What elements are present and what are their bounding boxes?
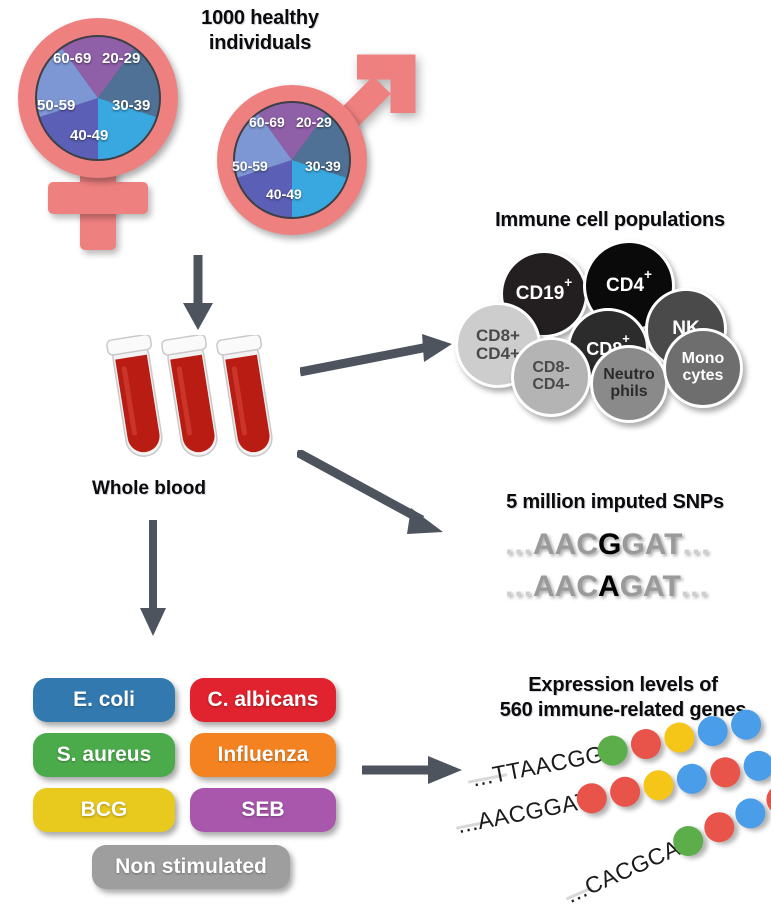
cell-label: CD4+ — [606, 276, 652, 296]
immune-cells-group: CD19+ CD4+ CD8+ CD4+ CD8+ NK CD8- CD4- N… — [455, 240, 765, 415]
snp-left: AAC — [533, 528, 598, 561]
stimulus-s-aureus[interactable]: S. aureus — [33, 733, 175, 777]
age-label-60-69: 60-69 — [53, 50, 91, 67]
snp-highlight: G — [598, 528, 621, 561]
snp-suffix: ... — [681, 570, 709, 603]
stimulus-label: Non stimulated — [115, 855, 267, 879]
immune-cells-title: Immune cell populations — [460, 208, 760, 233]
snps-title: 5 million imputed SNPs — [470, 490, 760, 515]
arrow-down-cohort-to-blood — [178, 255, 218, 335]
stimulus-seb[interactable]: SEB — [190, 788, 336, 832]
expression-bead — [662, 720, 697, 755]
female-stem-horizontal — [48, 182, 148, 214]
snp-right: GAT — [620, 570, 681, 603]
stimulus-label: SEB — [241, 798, 284, 822]
blood-tube — [216, 335, 278, 459]
arrow-down-blood-to-stimuli — [133, 520, 173, 640]
cell-label: Neutro phils — [593, 367, 665, 400]
age-label-40-49: 40-49 — [70, 127, 108, 144]
snp-prefix: ... — [505, 570, 533, 603]
stimulus-e-coli[interactable]: E. coli — [33, 678, 175, 722]
cell-monocytes[interactable]: Mono cytes — [663, 328, 743, 408]
whole-blood-label: Whole blood — [92, 478, 206, 500]
expression-bead — [674, 761, 709, 796]
stimulus-non-stimulated[interactable]: Non stimulated — [92, 845, 290, 889]
snp-highlight: A — [598, 570, 620, 603]
age-label-30-39: 30-39 — [112, 97, 150, 114]
age-label-30-39: 30-39 — [305, 158, 341, 174]
stimulus-label: Influenza — [217, 743, 308, 767]
expression-bead — [741, 748, 771, 783]
snp-left: AAC — [533, 570, 598, 603]
cell-cd8neg-cd4neg[interactable]: CD8- CD4- — [511, 337, 591, 417]
snp-suffix: ... — [682, 528, 710, 561]
arrow-blood-to-snps — [297, 450, 467, 545]
male-symbol: 20-29 30-39 40-49 50-59 60-69 — [207, 55, 422, 250]
stimulus-label: C. albicans — [208, 688, 319, 712]
age-label-50-59: 50-59 — [37, 97, 75, 114]
stimulus-bcg[interactable]: BCG — [33, 788, 175, 832]
expression-bead — [731, 794, 771, 834]
snp-right: GAT — [621, 528, 682, 561]
blood-tube — [106, 335, 168, 459]
cell-neutrophils[interactable]: Neutro phils — [590, 345, 668, 423]
expression-bead — [608, 774, 643, 809]
stimulus-influenza[interactable]: Influenza — [190, 733, 336, 777]
expression-bead — [641, 768, 676, 803]
expression-bead — [708, 755, 743, 790]
age-label-40-49: 40-49 — [266, 186, 302, 202]
snp-prefix: ... — [505, 528, 533, 561]
expression-strands-group: ...TTAACGG ...AACGGAT ...CACGCAA — [455, 725, 771, 910]
snp-row: ...AACGGAT... — [505, 528, 710, 562]
arrow-blood-to-cells — [300, 330, 460, 380]
expression-title-line2: 560 immune-related genes — [478, 698, 768, 723]
stimulus-label: E. coli — [73, 688, 135, 712]
expression-bead — [699, 807, 739, 847]
age-label-50-59: 50-59 — [232, 158, 268, 174]
cell-label: CD19+ — [516, 284, 573, 304]
age-label-20-29: 20-29 — [296, 114, 332, 130]
blood-tube — [161, 335, 223, 459]
expression-bead — [628, 726, 663, 761]
page-title: 1000 healthy individuals — [170, 6, 350, 56]
cell-label: Mono cytes — [666, 351, 740, 384]
age-label-60-69: 60-69 — [249, 114, 285, 130]
blood-tubes-group — [105, 335, 290, 470]
stimulus-label: S. aureus — [57, 743, 152, 767]
stimulus-label: BCG — [81, 798, 128, 822]
snp-row: ...AACAGAT... — [505, 570, 709, 604]
age-label-20-29: 20-29 — [102, 50, 140, 67]
stimulus-c-albicans[interactable]: C. albicans — [190, 678, 336, 722]
expression-title-line1: Expression levels of — [478, 673, 768, 698]
cell-label: CD8- CD4- — [514, 360, 588, 393]
female-symbol: 20-29 30-39 40-49 50-59 60-69 — [10, 10, 190, 255]
strand-sequence: ...AACGGAT — [455, 787, 593, 839]
